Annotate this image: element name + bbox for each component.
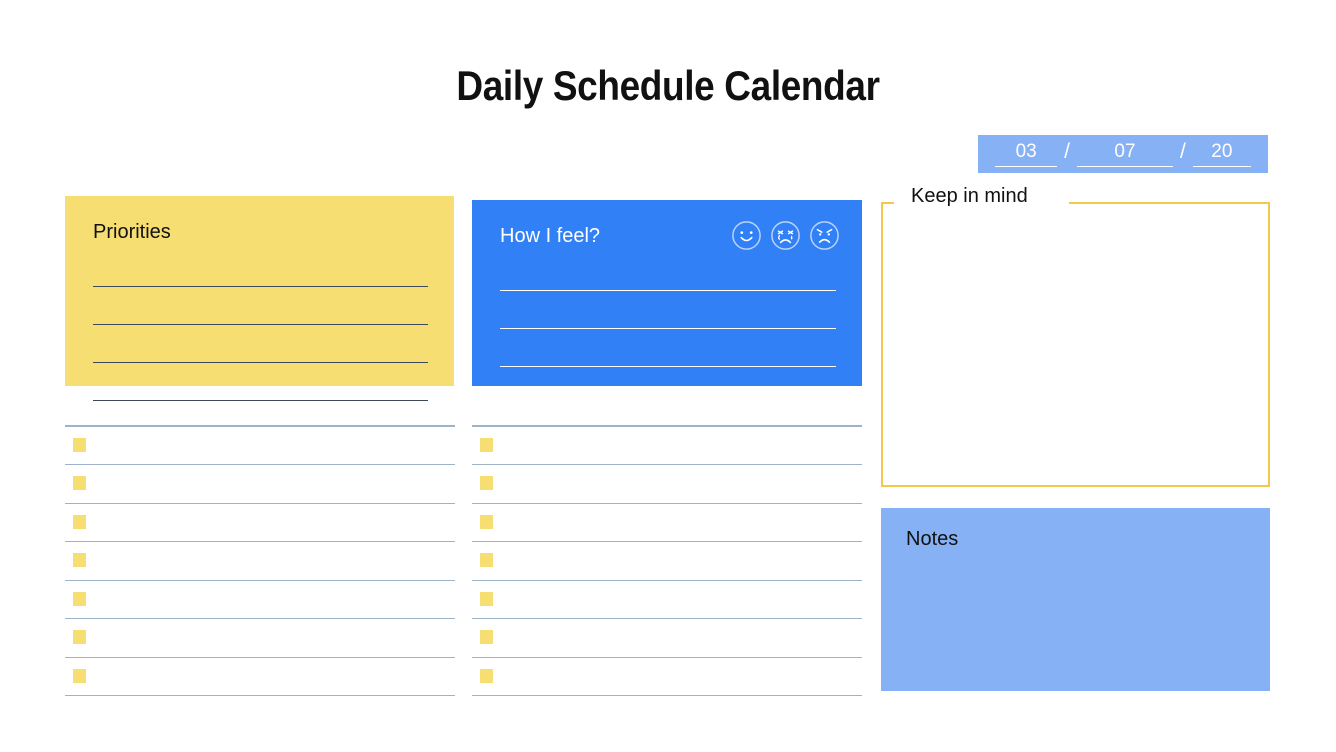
date-year-input[interactable]: 20	[1193, 142, 1251, 167]
checkbox-square[interactable]	[73, 515, 86, 529]
checklist-row[interactable]	[65, 619, 455, 658]
checkbox-square[interactable]	[480, 553, 493, 567]
checklist-row[interactable]	[472, 581, 862, 620]
priorities-line[interactable]	[93, 400, 428, 420]
checklist-row[interactable]	[65, 581, 455, 620]
checkbox-square[interactable]	[480, 630, 493, 644]
checklist-row[interactable]	[472, 542, 862, 581]
priorities-title: Priorities	[93, 221, 171, 244]
how-i-feel-card: How I feel?	[472, 200, 862, 386]
keep-in-mind-border-bottom	[881, 485, 1270, 487]
keep-in-mind-border-right	[1268, 202, 1270, 487]
keep-in-mind-box[interactable]: Keep in mind	[881, 202, 1270, 487]
how-i-feel-line[interactable]	[500, 404, 836, 424]
checklist-row[interactable]	[472, 658, 862, 697]
checklist-row[interactable]	[65, 504, 455, 543]
date-month-input[interactable]: 07	[1077, 142, 1173, 167]
mood-selector[interactable]	[731, 220, 840, 256]
checklist-row[interactable]	[65, 427, 455, 466]
how-i-feel-write-lines	[500, 272, 836, 425]
checklist-row[interactable]	[472, 465, 862, 504]
happy-face-icon[interactable]	[731, 220, 762, 256]
page-title: Daily Schedule Calendar	[80, 62, 1256, 110]
date-field[interactable]: 03 / 07 / 20	[978, 135, 1268, 173]
notes-title: Notes	[906, 528, 958, 551]
how-i-feel-title: How I feel?	[500, 225, 600, 248]
notes-box[interactable]: Notes	[881, 508, 1270, 691]
how-i-feel-line[interactable]	[500, 328, 836, 348]
checkbox-square[interactable]	[480, 592, 493, 606]
how-i-feel-line[interactable]	[500, 366, 836, 386]
priorities-card: Priorities	[65, 196, 454, 386]
checkbox-square[interactable]	[73, 438, 86, 452]
priorities-write-lines	[93, 268, 428, 421]
keep-in-mind-border-left	[881, 202, 883, 487]
checkbox-square[interactable]	[480, 669, 493, 683]
how-i-feel-line[interactable]	[500, 290, 836, 310]
checkbox-square[interactable]	[480, 515, 493, 529]
priorities-line[interactable]	[93, 286, 428, 306]
checklist-row[interactable]	[65, 658, 455, 697]
date-separator-2: /	[1173, 141, 1193, 167]
angry-face-icon[interactable]	[809, 220, 840, 256]
checklist-row[interactable]	[65, 465, 455, 504]
crying-face-icon[interactable]	[770, 220, 801, 256]
checklist-row[interactable]	[472, 504, 862, 543]
checkbox-square[interactable]	[480, 476, 493, 490]
checkbox-square[interactable]	[73, 476, 86, 490]
priorities-line[interactable]	[93, 362, 428, 382]
keep-in-mind-border-top-stub	[881, 202, 894, 204]
date-separator-1: /	[1057, 141, 1077, 167]
checkbox-square[interactable]	[73, 553, 86, 567]
checkbox-square[interactable]	[480, 438, 493, 452]
checkbox-square[interactable]	[73, 592, 86, 606]
checklist-row[interactable]	[472, 427, 862, 466]
checklist-left	[65, 425, 455, 696]
priorities-line[interactable]	[93, 324, 428, 344]
checkbox-square[interactable]	[73, 669, 86, 683]
checklist-row[interactable]	[472, 619, 862, 658]
keep-in-mind-border-top	[1069, 202, 1270, 204]
keep-in-mind-title: Keep in mind	[903, 185, 1036, 208]
checklist-row[interactable]	[65, 542, 455, 581]
date-day-input[interactable]: 03	[995, 142, 1057, 167]
checklist-right	[472, 425, 862, 696]
checkbox-square[interactable]	[73, 630, 86, 644]
